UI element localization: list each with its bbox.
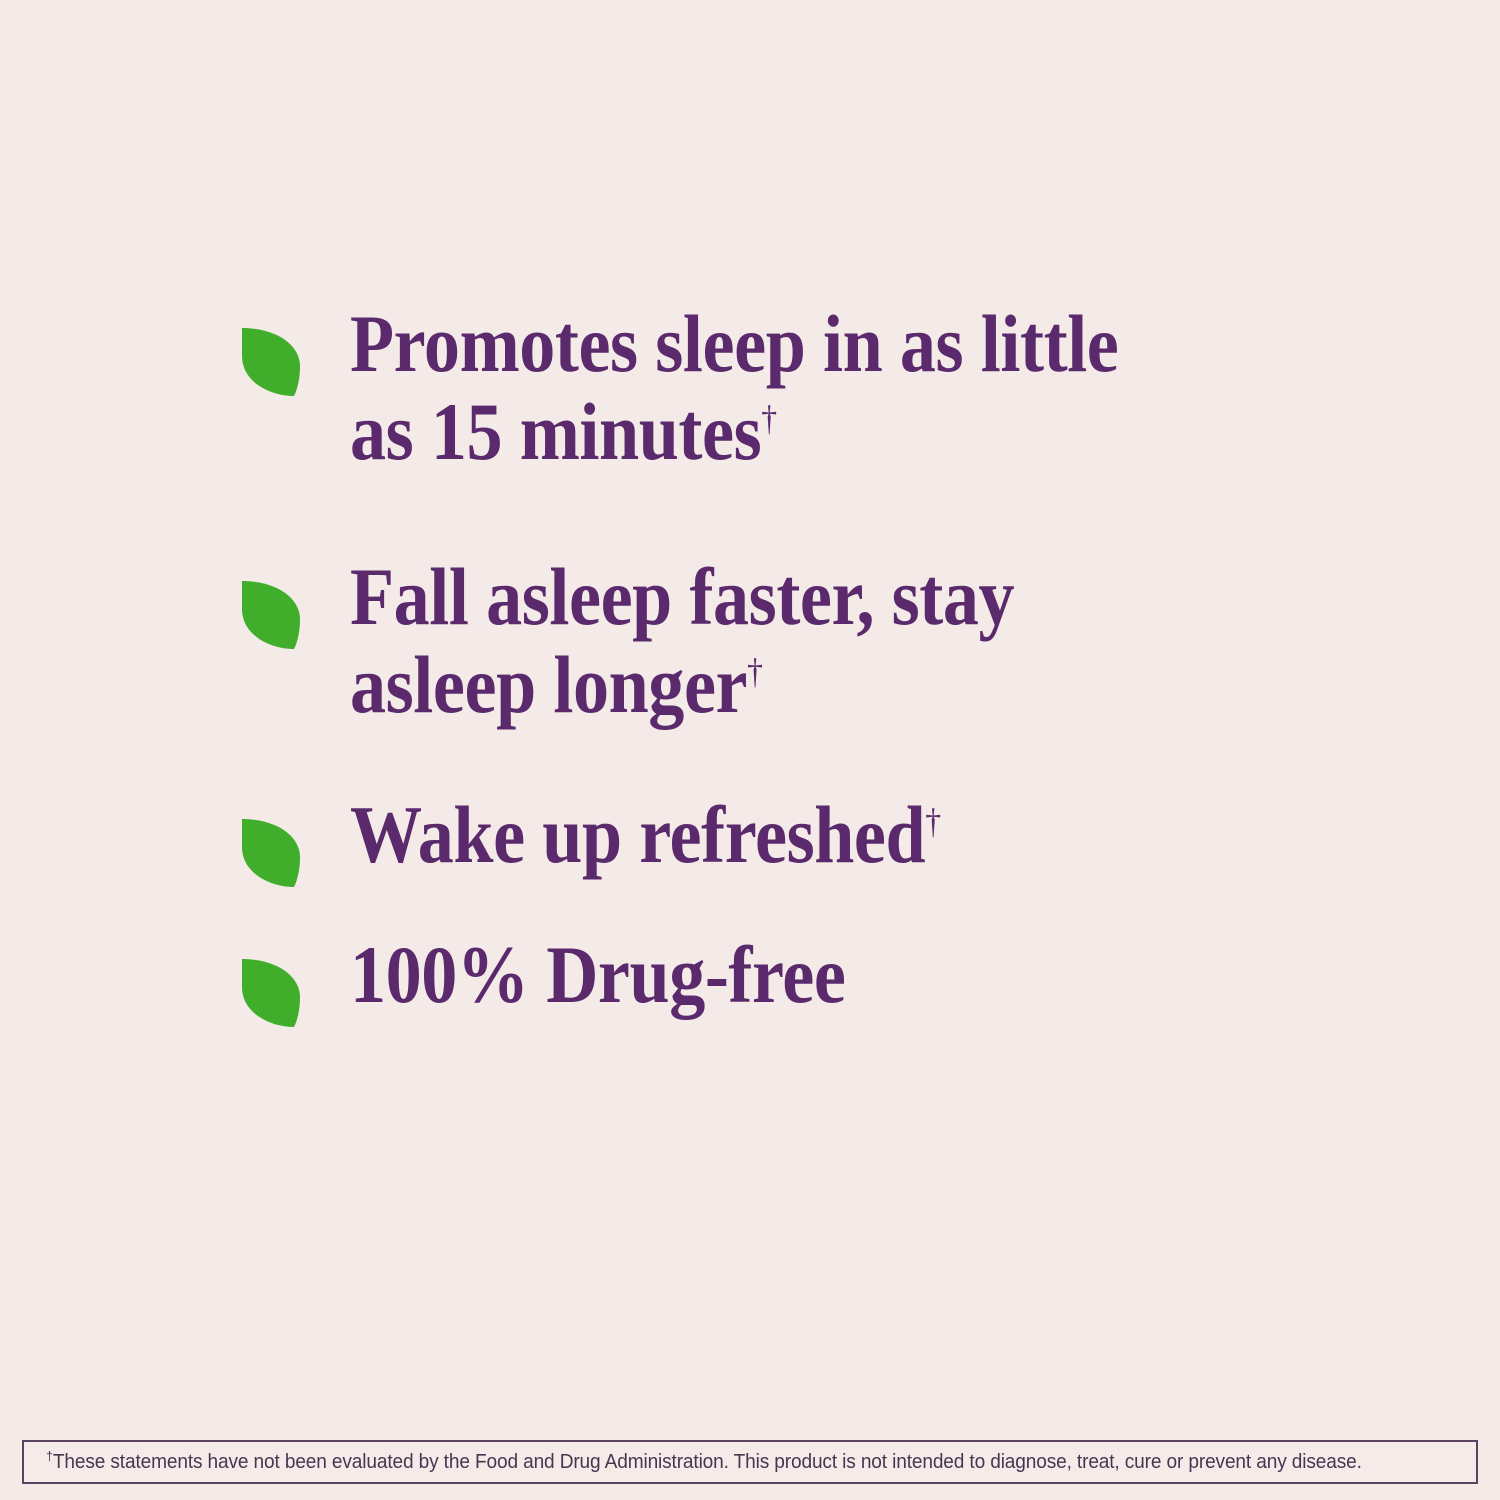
benefit-label-fall-asleep-faster: Fall asleep faster, stay asleep longer†: [350, 553, 1239, 728]
benefit-item-wake-up-refreshed: Wake up refreshed†: [240, 791, 1360, 889]
disclaimer-body: These statements have not been evaluated…: [53, 1451, 1362, 1473]
leaf-icon: [240, 579, 302, 651]
benefit-item-promotes-sleep: Promotes sleep in as little as 15 minute…: [240, 300, 1360, 475]
leaf-icon: [240, 817, 302, 889]
leaf-bullet-1: [240, 300, 350, 398]
benefit-label-promotes-sleep: Promotes sleep in as little as 15 minute…: [350, 300, 1239, 475]
footnote-dagger: †: [925, 802, 940, 842]
benefit-item-fall-asleep-faster: Fall asleep faster, stay asleep longer†: [240, 553, 1360, 728]
disclaimer-text: †These statements have not been evaluate…: [46, 1452, 1362, 1472]
benefit-item-drug-free: 100% Drug-free: [240, 931, 1360, 1029]
leaf-icon: [240, 957, 302, 1029]
disclaimer-box: †These statements have not been evaluate…: [22, 1440, 1478, 1484]
benefit-label-drug-free: 100% Drug-free: [350, 931, 1239, 1019]
product-benefits-panel: Promotes sleep in as little as 15 minute…: [0, 0, 1500, 1500]
benefits-list: Promotes sleep in as little as 15 minute…: [240, 300, 1360, 1029]
footnote-dagger: †: [747, 652, 762, 692]
leaf-bullet-4: [240, 931, 350, 1029]
leaf-bullet-3: [240, 791, 350, 889]
footnote-dagger: †: [761, 398, 776, 438]
leaf-icon: [240, 326, 302, 398]
leaf-bullet-2: [240, 553, 350, 651]
benefit-label-wake-up-refreshed: Wake up refreshed†: [350, 791, 1239, 879]
